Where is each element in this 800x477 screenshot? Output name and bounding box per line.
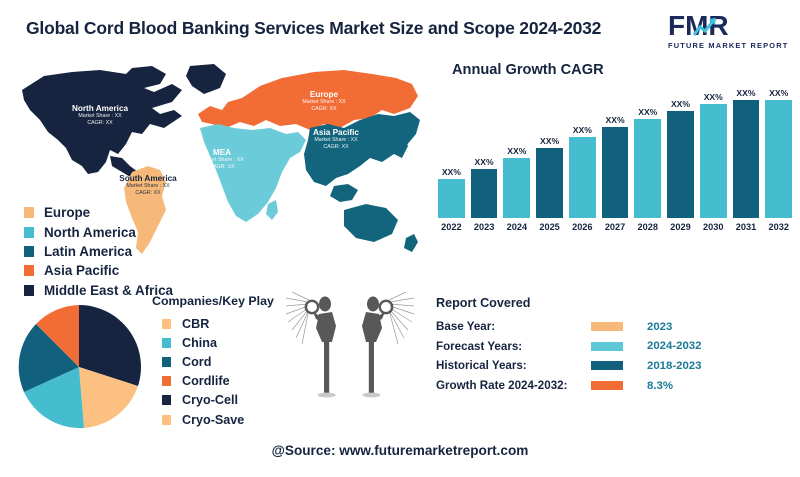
bar-2030[interactable] <box>700 104 727 218</box>
company-label: CBR <box>182 317 209 331</box>
x-tick-2031: 2031 <box>733 222 760 232</box>
map-region-southeast-asia <box>330 184 358 202</box>
bar-column[interactable]: XX% <box>471 88 498 218</box>
leg-icon <box>369 340 374 394</box>
x-tick-2030: 2030 <box>700 222 727 232</box>
company-label: Cryo-Save <box>182 413 244 427</box>
bar-value-label: XX% <box>704 92 723 102</box>
bar-value-label: XX% <box>638 107 657 117</box>
bar-column[interactable]: XX% <box>733 88 760 218</box>
report-swatch-base-year <box>591 322 623 331</box>
bar-value-label: XX% <box>605 115 624 125</box>
bar-2028[interactable] <box>634 119 661 218</box>
map-region-north-america[interactable] <box>22 66 182 174</box>
x-tick-2026: 2026 <box>569 222 596 232</box>
legend-swatch-cryo-save <box>162 415 171 425</box>
report-row-label: Forecast Years: <box>436 340 591 353</box>
source-footer: @Source: www.futuremarketreport.com <box>0 443 800 458</box>
bar-column[interactable]: XX% <box>765 88 792 218</box>
x-tick-2022: 2022 <box>438 222 465 232</box>
map-region-madagascar <box>266 200 278 220</box>
bar-column[interactable]: XX% <box>503 88 530 218</box>
company-legend-item[interactable]: Cordlife <box>152 372 274 391</box>
bar-2022[interactable] <box>438 179 465 218</box>
legend-swatch-europe <box>24 207 34 218</box>
bar-value-label: XX% <box>736 88 755 98</box>
company-label: Cord <box>182 355 211 369</box>
left-rays <box>286 292 309 344</box>
magnifier-lens-icon <box>380 301 392 313</box>
bar-2027[interactable] <box>602 127 629 218</box>
head-icon <box>319 297 331 312</box>
region-legend-item[interactable]: Latin America <box>24 242 173 261</box>
pie-chart-svg <box>14 302 144 432</box>
map-region-greenland <box>186 64 226 94</box>
bar-chart-x-axis: 2022 2023 2024 2025 2026 2027 2028 2029 … <box>438 222 792 232</box>
shadow <box>318 393 336 398</box>
company-legend-item[interactable]: Cryo-Cell <box>152 391 274 410</box>
bar-value-label: XX% <box>769 88 788 98</box>
region-legend-label: North America <box>44 225 136 240</box>
bar-value-label: XX% <box>475 157 494 167</box>
legend-swatch-cryo-cell <box>162 395 171 405</box>
region-legend: Europe North America Latin America Asia … <box>24 203 173 300</box>
researchers-illustration <box>286 292 416 414</box>
legend-swatch-north-america <box>24 227 34 238</box>
report-covered-panel: Report Covered Base Year: 2023 Forecast … <box>436 296 736 395</box>
x-tick-2024: 2024 <box>503 222 530 232</box>
company-label: Cordlife <box>182 374 230 388</box>
report-row-label: Base Year: <box>436 320 591 333</box>
region-legend-label: Latin America <box>44 244 132 259</box>
bar-2023[interactable] <box>471 169 498 218</box>
logo-mark: FMR <box>668 12 786 40</box>
bar-column[interactable]: XX% <box>602 88 629 218</box>
region-legend-item[interactable]: North America <box>24 222 173 241</box>
region-legend-item[interactable]: Middle East & Africa <box>24 281 173 300</box>
infographic-root: Global Cord Blood Banking Services Marke… <box>0 0 800 477</box>
logo-tagline: FUTURE MARKET REPORT <box>668 41 786 50</box>
legend-swatch-cbr <box>162 319 171 329</box>
bar-2029[interactable] <box>667 111 694 218</box>
report-row-growth-rate: Growth Rate 2024-2032: 8.3% <box>436 376 736 396</box>
report-row-label: Historical Years: <box>436 359 591 372</box>
legend-swatch-middle-east-africa <box>24 285 34 296</box>
right-rays <box>389 292 414 344</box>
person-right-icon <box>362 292 414 397</box>
x-tick-2029: 2029 <box>667 222 694 232</box>
report-swatch-historical-years <box>591 361 623 370</box>
map-region-mea[interactable] <box>200 124 306 222</box>
company-legend-item[interactable]: Cord <box>152 352 274 371</box>
report-row-label: Growth Rate 2024-2032: <box>436 379 591 392</box>
region-legend-item[interactable]: Europe <box>24 203 173 222</box>
report-row-value: 8.3% <box>647 380 673 392</box>
company-label: China <box>182 336 217 350</box>
legend-swatch-cordlife <box>162 376 171 386</box>
magnifier-lens-icon <box>306 301 318 313</box>
report-row-base-year: Base Year: 2023 <box>436 317 736 337</box>
companies-legend: Companies/Key Play CBR China Cord Cordli… <box>152 294 274 429</box>
fmr-logo: FMR FUTURE MARKET REPORT <box>668 12 786 52</box>
bar-column[interactable]: XX% <box>634 88 661 218</box>
map-region-australia <box>344 204 398 242</box>
report-swatch-forecast-years <box>591 342 623 351</box>
x-tick-2032: 2032 <box>765 222 792 232</box>
x-tick-2028: 2028 <box>634 222 661 232</box>
chart-arrow-icon <box>693 16 719 38</box>
bar-chart-bars: XX% XX% XX% XX% XX% XX% <box>438 88 792 218</box>
legend-swatch-latin-america <box>24 246 34 257</box>
bar-column[interactable]: XX% <box>438 88 465 218</box>
companies-heading: Companies/Key Play <box>152 294 274 308</box>
bar-column[interactable]: XX% <box>667 88 694 218</box>
shadow <box>362 393 380 398</box>
person-left-icon <box>286 292 336 397</box>
report-row-forecast-years: Forecast Years: 2024-2032 <box>436 337 736 357</box>
bar-value-label: XX% <box>573 125 592 135</box>
bar-value-label: XX% <box>442 167 461 177</box>
bar-2024[interactable] <box>503 158 530 218</box>
head-icon <box>367 297 379 312</box>
report-covered-heading: Report Covered <box>436 296 736 310</box>
report-row-value: 2018-2023 <box>647 360 701 372</box>
report-row-value: 2024-2032 <box>647 340 701 352</box>
bar-2031[interactable] <box>733 100 760 218</box>
report-row-historical-years: Historical Years: 2018-2023 <box>436 356 736 376</box>
company-legend-item[interactable]: CBR <box>152 314 274 333</box>
region-legend-label: Europe <box>44 205 90 220</box>
region-legend-label: Asia Pacific <box>44 263 119 278</box>
bar-2025[interactable] <box>536 148 563 218</box>
people-svg <box>286 292 416 414</box>
bar-chart-title: Annual Growth CAGR <box>452 62 604 78</box>
bar-value-label: XX% <box>671 99 690 109</box>
leg-icon <box>324 340 329 394</box>
report-swatch-growth-rate <box>591 381 623 390</box>
report-row-value: 2023 <box>647 321 672 333</box>
company-legend-item[interactable]: China <box>152 333 274 352</box>
x-tick-2023: 2023 <box>471 222 498 232</box>
legend-swatch-asia-pacific <box>24 265 34 276</box>
map-region-new-zealand <box>404 234 418 252</box>
region-legend-item[interactable]: Asia Pacific <box>24 261 173 280</box>
bar-2032[interactable] <box>765 100 792 218</box>
legend-swatch-cord <box>162 357 171 367</box>
bar-column[interactable]: XX% <box>536 88 563 218</box>
bar-2026[interactable] <box>569 137 596 218</box>
x-tick-2025: 2025 <box>536 222 563 232</box>
x-tick-2027: 2027 <box>602 222 629 232</box>
bar-column[interactable]: XX% <box>700 88 727 218</box>
legend-swatch-china <box>162 338 171 348</box>
bar-column[interactable]: XX% <box>569 88 596 218</box>
company-label: Cryo-Cell <box>182 393 238 407</box>
bar-value-label: XX% <box>540 136 559 146</box>
company-legend-item[interactable]: Cryo-Save <box>152 410 274 429</box>
bar-value-label: XX% <box>507 146 526 156</box>
annual-growth-bar-chart: Annual Growth CAGR XX% XX% XX% XX% XX% <box>430 62 792 242</box>
companies-pie-chart <box>14 302 144 432</box>
page-title: Global Cord Blood Banking Services Marke… <box>26 18 601 39</box>
